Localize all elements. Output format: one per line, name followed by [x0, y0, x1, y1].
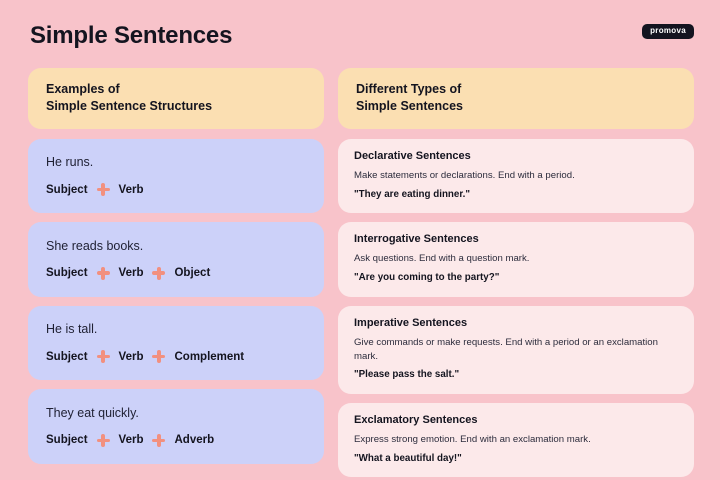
structure-card-list: He runs. Subject Verb She reads books. S… — [28, 139, 324, 464]
sentence-type-description: Give commands or make requests. End with… — [354, 336, 678, 363]
sentence-type-card-list: Declarative Sentences Make statements or… — [338, 139, 694, 478]
plus-icon — [97, 183, 110, 196]
plus-icon — [152, 434, 165, 447]
column-header-examples: Examples of Simple Sentence Structures — [28, 68, 324, 129]
sentence-type-example: "What a beautiful day!" — [354, 453, 678, 466]
column-examples: Examples of Simple Sentence Structures H… — [28, 68, 324, 464]
structure-example-sentence: They eat quickly. — [46, 406, 306, 421]
sentence-type-description: Make statements or declarations. End wit… — [354, 169, 678, 183]
structure-card[interactable]: He is tall. Subject Verb Complement — [28, 306, 324, 381]
structure-part-label: Verb — [119, 434, 144, 446]
sentence-type-title: Interrogative Sentences — [354, 233, 678, 246]
content-columns: Examples of Simple Sentence Structures H… — [0, 68, 720, 480]
sentence-type-example: "Please pass the salt." — [354, 369, 678, 382]
structure-part-label: Subject — [46, 267, 88, 279]
column-header-types-line2: Simple Sentences — [356, 98, 676, 115]
sentence-type-card[interactable]: Declarative Sentences Make statements or… — [338, 139, 694, 214]
structure-card[interactable]: He runs. Subject Verb — [28, 139, 324, 214]
column-header-types: Different Types of Simple Sentences — [338, 68, 694, 129]
column-header-types-line1: Different Types of — [356, 82, 461, 96]
sentence-type-card[interactable]: Interrogative Sentences Ask questions. E… — [338, 222, 694, 297]
structure-part-label: Complement — [174, 351, 244, 363]
sentence-type-title: Exclamatory Sentences — [354, 414, 678, 427]
page-title: Simple Sentences — [30, 22, 232, 50]
plus-icon — [97, 350, 110, 363]
structure-formula: Subject Verb — [46, 183, 306, 196]
sentence-type-title: Imperative Sentences — [354, 317, 678, 330]
structure-example-sentence: He runs. — [46, 155, 306, 170]
sentence-type-example: "They are eating dinner." — [354, 189, 678, 202]
structure-formula: Subject Verb Object — [46, 267, 306, 280]
structure-card[interactable]: They eat quickly. Subject Verb Adverb — [28, 389, 324, 464]
column-header-examples-line1: Examples of — [46, 82, 120, 96]
plus-icon — [97, 434, 110, 447]
structure-formula: Subject Verb Complement — [46, 350, 306, 363]
sentence-type-card[interactable]: Imperative Sentences Give commands or ma… — [338, 306, 694, 394]
column-header-examples-line2: Simple Sentence Structures — [46, 98, 306, 115]
plus-icon — [152, 350, 165, 363]
structure-part-label: Verb — [119, 184, 144, 196]
structure-part-label: Verb — [119, 351, 144, 363]
sentence-type-card[interactable]: Exclamatory Sentences Express strong emo… — [338, 403, 694, 478]
structure-part-label: Object — [174, 267, 210, 279]
promova-logo: promova — [642, 24, 694, 39]
structure-formula: Subject Verb Adverb — [46, 434, 306, 447]
structure-example-sentence: She reads books. — [46, 239, 306, 254]
structure-example-sentence: He is tall. — [46, 322, 306, 337]
plus-icon — [97, 267, 110, 280]
structure-part-label: Subject — [46, 434, 88, 446]
top-bar: Simple Sentences promova — [0, 0, 720, 62]
sentence-type-example: "Are you coming to the party?" — [354, 272, 678, 285]
sentence-type-description: Ask questions. End with a question mark. — [354, 252, 678, 266]
structure-part-label: Adverb — [174, 434, 214, 446]
plus-icon — [152, 267, 165, 280]
sentence-type-title: Declarative Sentences — [354, 150, 678, 163]
sentence-type-description: Express strong emotion. End with an excl… — [354, 433, 678, 447]
structure-card[interactable]: She reads books. Subject Verb Object — [28, 222, 324, 297]
column-types: Different Types of Simple Sentences Decl… — [338, 68, 694, 464]
structure-part-label: Verb — [119, 267, 144, 279]
structure-part-label: Subject — [46, 351, 88, 363]
structure-part-label: Subject — [46, 184, 88, 196]
